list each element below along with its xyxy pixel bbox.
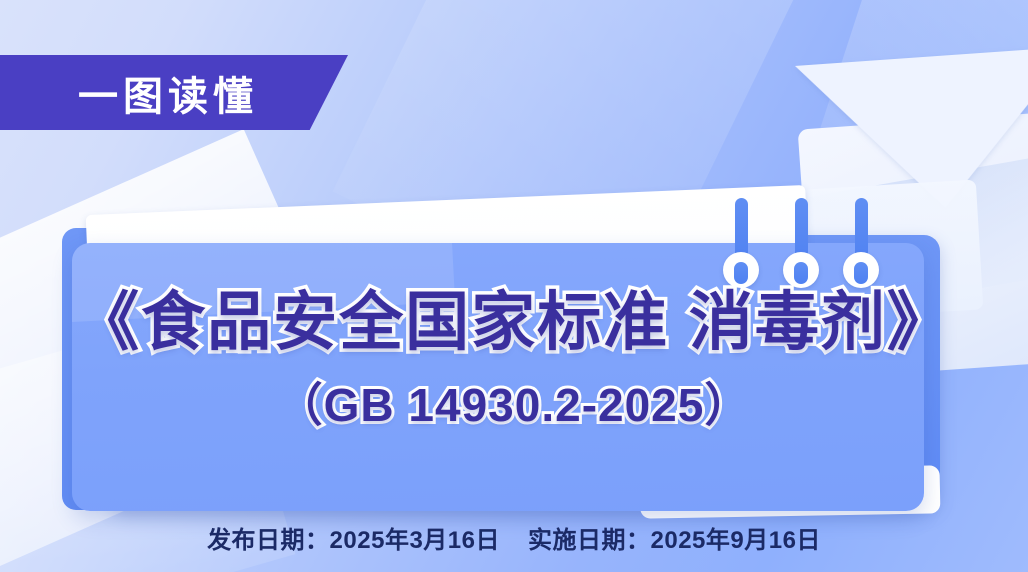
binder-ring-hole <box>723 252 759 288</box>
publish-date: 发布日期：2025年3月16日 <box>207 527 500 554</box>
date-line: 发布日期：2025年3月16日实施日期：2025年9月16日 <box>0 520 1028 555</box>
binder-ring-hole <box>843 252 879 288</box>
binder-ring-icon <box>853 198 869 288</box>
binder-ring-hole <box>783 252 819 288</box>
binder-ring-icon <box>793 198 809 288</box>
binder-ring-icon <box>733 198 749 288</box>
ribbon-label: 一图读懂 <box>78 64 258 122</box>
poster-root: 一图读懂 《食品安全国家标准 消毒剂》 （GB 14930.2-2025） 发布… <box>0 0 1028 572</box>
binder-rings <box>733 198 869 288</box>
effective-date: 实施日期：2025年9月16日 <box>528 527 821 554</box>
read-in-one-picture-ribbon: 一图读懂 <box>0 55 348 130</box>
